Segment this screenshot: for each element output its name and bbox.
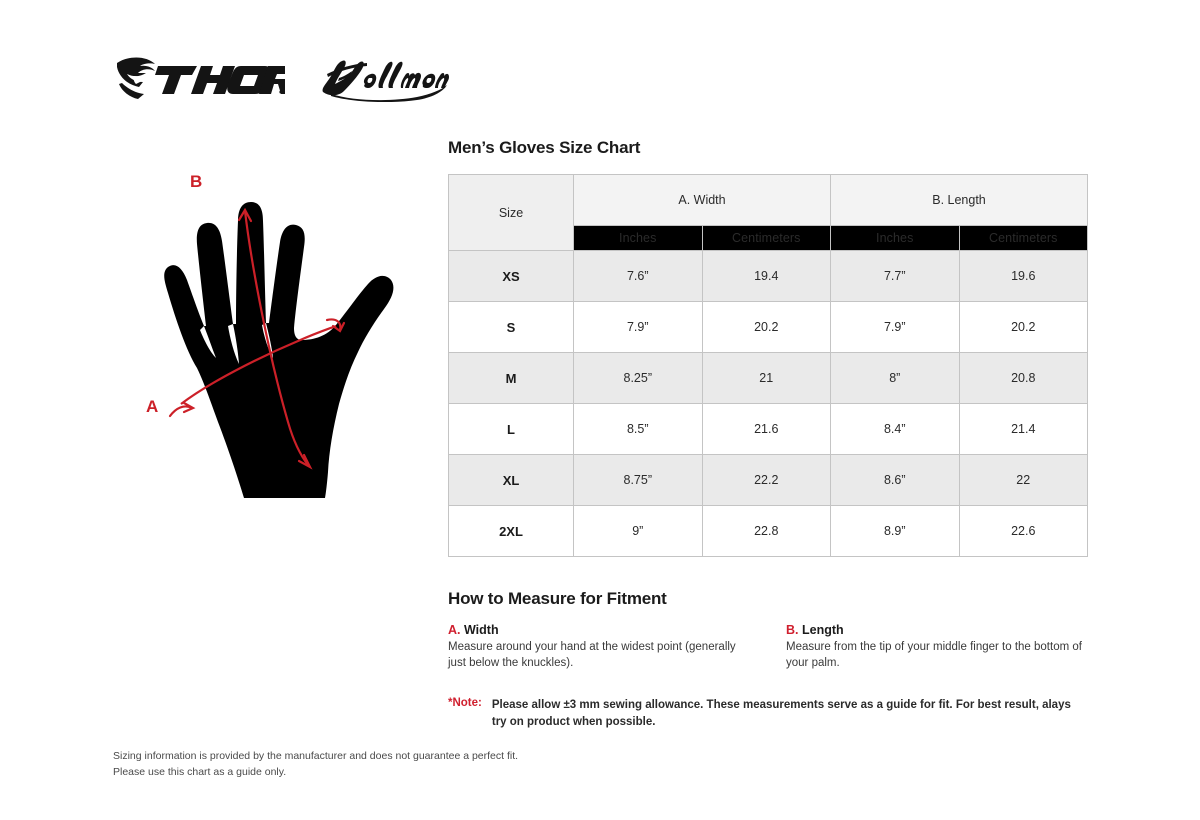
how-to-item-name: Length [802, 623, 844, 637]
cell-width-centimeters: 19.4 [702, 251, 831, 302]
how-to-item-heading: A. Width [448, 623, 750, 637]
table-row: 2XL 9” 22.8 8.9” 22.6 [449, 506, 1088, 557]
table-row: L 8.5” 21.6 8.4” 21.4 [449, 404, 1088, 455]
cell-length-centimeters: 22 [959, 455, 1088, 506]
main-content: Men’s Gloves Size Chart Size A. Width B.… [448, 138, 1088, 730]
cell-width-inches: 8.25” [574, 353, 703, 404]
how-to-measure-columns: A. Width Measure around your hand at the… [448, 623, 1088, 671]
header-unit-length-centimeters: Centimeters [959, 226, 1088, 251]
note-block: *Note: Please allow ±3 mm sewing allowan… [448, 697, 1088, 730]
diagram-label-b: B [190, 172, 202, 191]
cell-length-centimeters: 22.6 [959, 506, 1088, 557]
how-to-item-mark: A. [448, 623, 461, 637]
header-group-width: A. Width [574, 175, 831, 226]
cell-length-inches: 8.6” [831, 455, 960, 506]
cell-length-centimeters: 20.2 [959, 302, 1088, 353]
cell-length-inches: 8” [831, 353, 960, 404]
table-head: Size A. Width B. Length Inches Centimete… [449, 175, 1088, 251]
cell-size: L [449, 404, 574, 455]
footer-line-2: Please use this chart as a guide only. [113, 764, 518, 780]
table-row: XL 8.75” 22.2 8.6” 22 [449, 455, 1088, 506]
cell-length-centimeters: 20.8 [959, 353, 1088, 404]
how-to-item-mark: B. [786, 623, 799, 637]
cell-width-inches: 8.5” [574, 404, 703, 455]
thor-logo [113, 53, 285, 101]
how-to-item-text: Measure from the tip of your middle fing… [786, 640, 1088, 671]
cell-width-centimeters: 22.2 [702, 455, 831, 506]
cell-width-inches: 9” [574, 506, 703, 557]
size-chart-table: Size A. Width B. Length Inches Centimete… [448, 174, 1088, 557]
cell-size: S [449, 302, 574, 353]
header-row-groups: Size A. Width B. Length [449, 175, 1088, 226]
cell-width-centimeters: 21.6 [702, 404, 831, 455]
page-title: Men’s Gloves Size Chart [448, 138, 1088, 158]
table-row: XS 7.6” 19.4 7.7” 19.6 [449, 251, 1088, 302]
header-unit-width-inches: Inches [574, 226, 703, 251]
table-body: XS 7.6” 19.4 7.7” 19.6 S 7.9” 20.2 7.9” … [449, 251, 1088, 557]
brand-logo-bar [113, 52, 449, 102]
how-to-item-length: B. Length Measure from the tip of your m… [786, 623, 1088, 671]
how-to-measure-title: How to Measure for Fitment [448, 589, 1088, 609]
how-to-item-width: A. Width Measure around your hand at the… [448, 623, 750, 671]
note-text: Please allow ±3 mm sewing allowance. The… [492, 697, 1082, 730]
hand-measurement-diagram: B A [120, 160, 430, 530]
table-row: S 7.9” 20.2 7.9” 20.2 [449, 302, 1088, 353]
cell-length-centimeters: 19.6 [959, 251, 1088, 302]
cell-length-inches: 8.4” [831, 404, 960, 455]
how-to-item-name: Width [464, 623, 499, 637]
how-to-item-heading: B. Length [786, 623, 1088, 637]
cell-size: XL [449, 455, 574, 506]
how-to-item-text: Measure around your hand at the widest p… [448, 640, 750, 671]
note-label: *Note: [448, 697, 482, 709]
size-chart-page: B A Men’s Gloves Size Chart Size A. Widt… [0, 0, 1200, 820]
footer-disclaimer: Sizing information is provided by the ma… [113, 748, 518, 781]
cell-width-inches: 8.75” [574, 455, 703, 506]
header-group-length: B. Length [831, 175, 1088, 226]
footer-line-1: Sizing information is provided by the ma… [113, 748, 518, 764]
cell-size: M [449, 353, 574, 404]
cell-width-centimeters: 20.2 [702, 302, 831, 353]
cell-length-inches: 7.7” [831, 251, 960, 302]
hallman-logo [317, 52, 449, 102]
cell-size: XS [449, 251, 574, 302]
cell-length-inches: 7.9” [831, 302, 960, 353]
how-to-measure-section: How to Measure for Fitment A. Width Meas… [448, 589, 1088, 671]
header-unit-width-centimeters: Centimeters [702, 226, 831, 251]
cell-width-centimeters: 22.8 [702, 506, 831, 557]
cell-width-inches: 7.9” [574, 302, 703, 353]
diagram-label-a: A [146, 397, 158, 416]
header-size: Size [449, 175, 574, 251]
cell-length-inches: 8.9” [831, 506, 960, 557]
cell-size: 2XL [449, 506, 574, 557]
cell-width-inches: 7.6” [574, 251, 703, 302]
cell-width-centimeters: 21 [702, 353, 831, 404]
table-row: M 8.25” 21 8” 20.8 [449, 353, 1088, 404]
header-unit-length-inches: Inches [831, 226, 960, 251]
cell-length-centimeters: 21.4 [959, 404, 1088, 455]
